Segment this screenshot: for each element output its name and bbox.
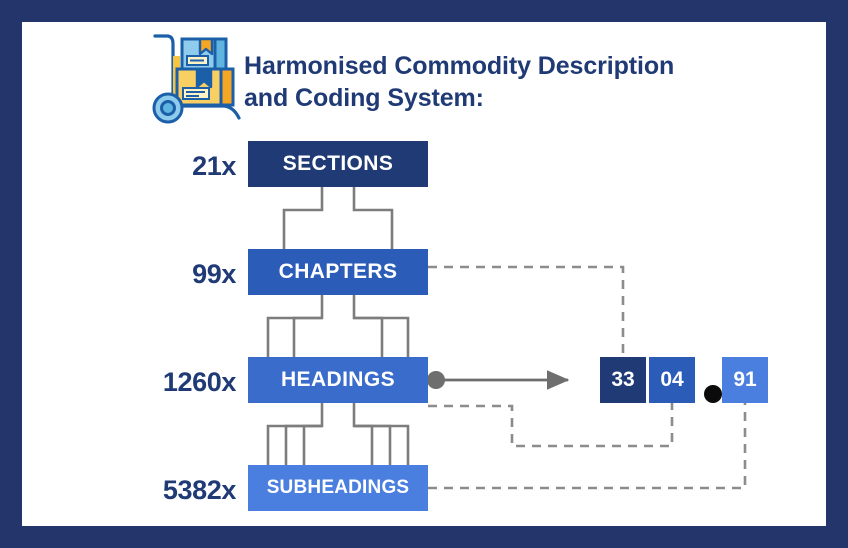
hierarchy-box-chapters[interactable]: CHAPTERS bbox=[248, 249, 428, 295]
code-separator-dot bbox=[704, 385, 722, 403]
hierarchy-label-headings: HEADINGS bbox=[281, 368, 395, 392]
hierarchy-box-subheadings[interactable]: SUBHEADINGS bbox=[248, 465, 428, 511]
code-digit-value-1: 33 bbox=[611, 368, 634, 392]
code-digit-box-2[interactable]: 04 bbox=[649, 357, 695, 403]
multiplier-headings: 1260x bbox=[106, 367, 236, 398]
hierarchy-label-sections: SECTIONS bbox=[283, 152, 394, 176]
multiplier-subheadings: 5382x bbox=[106, 475, 236, 506]
multiplier-chapters: 99x bbox=[106, 259, 236, 290]
hierarchy-box-headings[interactable]: HEADINGS bbox=[248, 357, 428, 403]
code-digit-box-3[interactable]: 91 bbox=[722, 357, 768, 403]
hierarchy-label-chapters: CHAPTERS bbox=[279, 260, 398, 284]
poster-canvas: Harmonised Commodity Description and Cod… bbox=[22, 22, 826, 526]
code-digit-value-2: 04 bbox=[660, 368, 683, 392]
hierarchy-box-sections[interactable]: SECTIONS bbox=[248, 141, 428, 187]
multiplier-sections: 21x bbox=[106, 151, 236, 182]
infographic-poster: Harmonised Commodity Description and Cod… bbox=[0, 0, 848, 548]
hierarchy-label-subheadings: SUBHEADINGS bbox=[267, 477, 410, 499]
code-digit-box-1[interactable]: 33 bbox=[600, 357, 646, 403]
code-digit-value-3: 91 bbox=[733, 368, 756, 392]
